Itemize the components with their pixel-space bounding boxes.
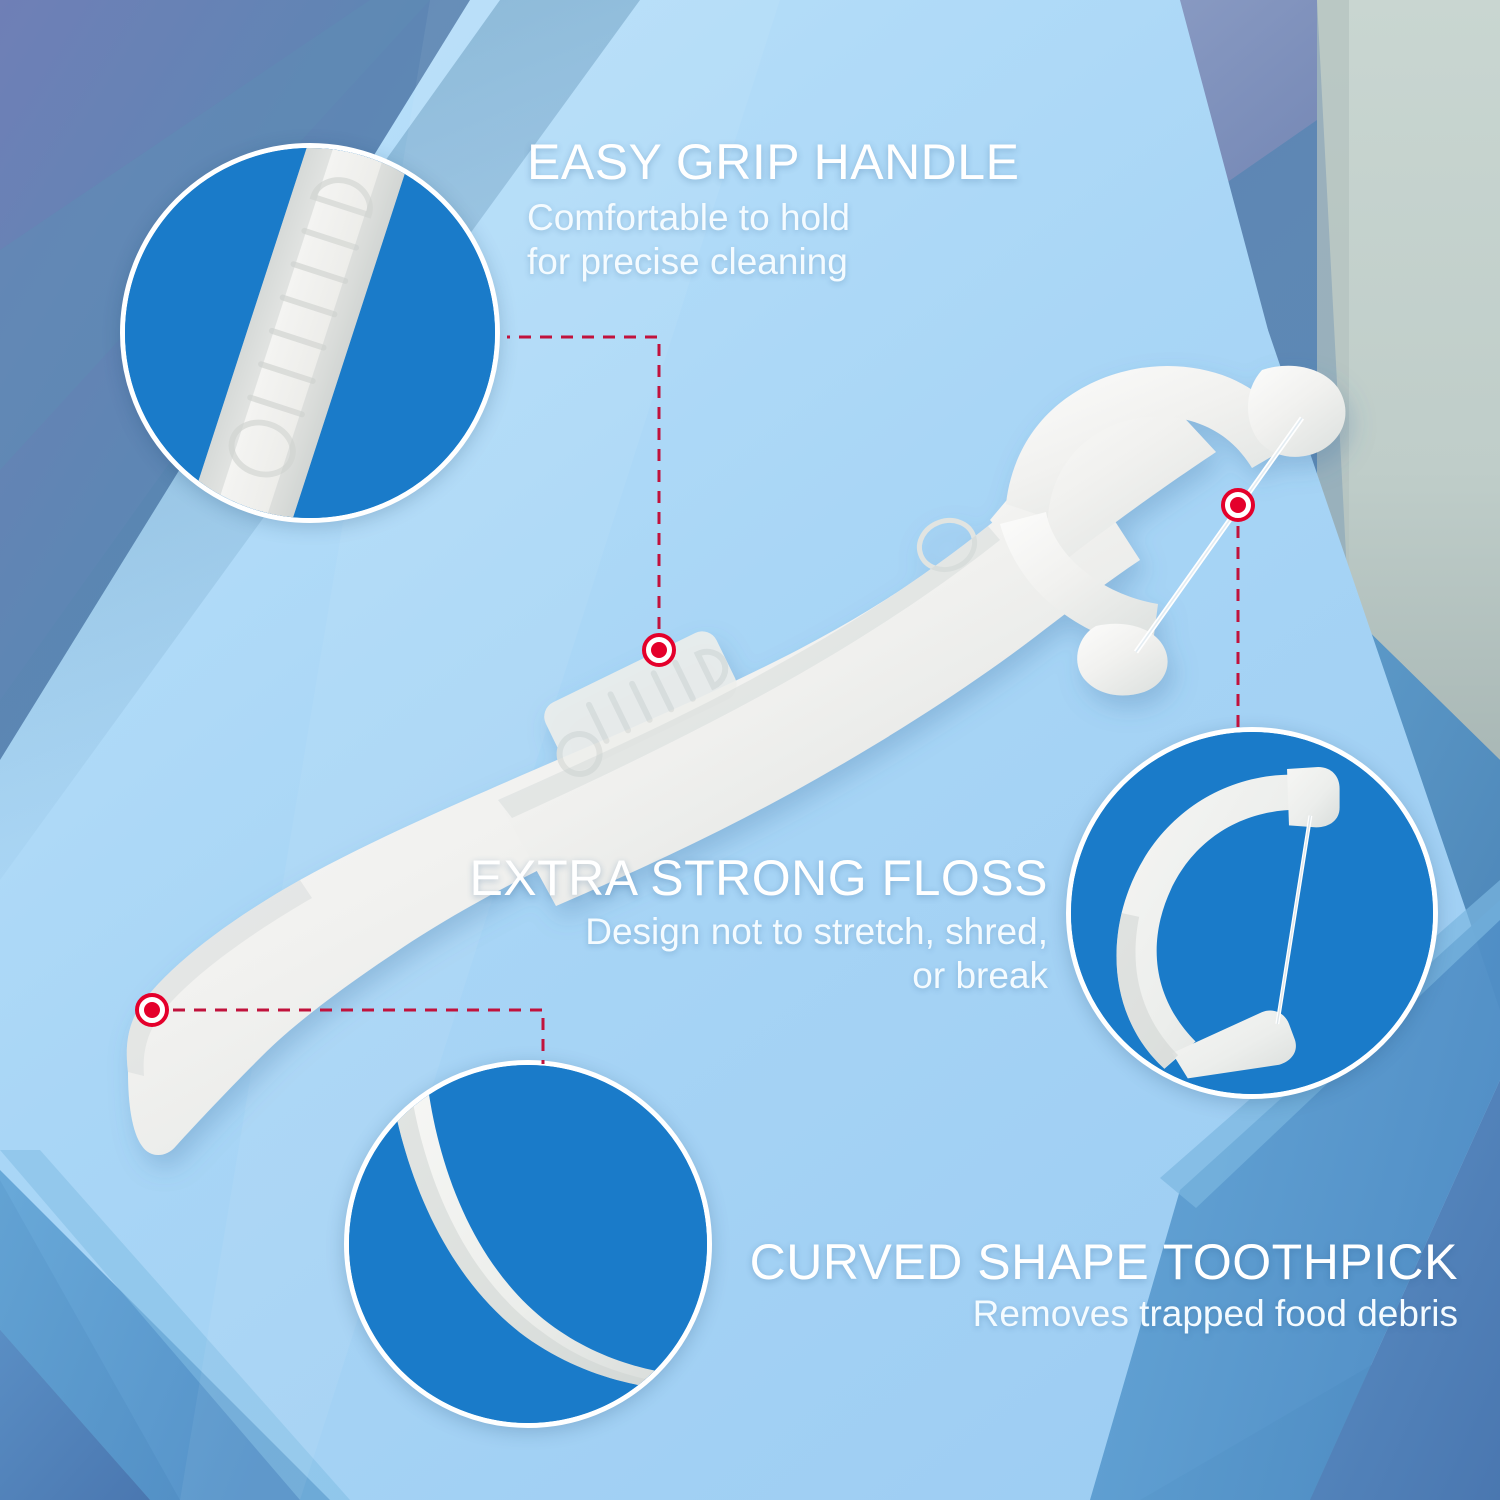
feature-subtitle-line: Design not to stretch, shred,	[469, 910, 1048, 954]
feature-text-extra-strong-floss: EXTRA STRONG FLOSS Design not to stretch…	[469, 852, 1048, 997]
feature-title-easy-grip-handle: EASY GRIP HANDLE	[527, 136, 1019, 188]
feature-subtitle-line: Removes trapped food debris	[750, 1292, 1458, 1336]
feature-subtitle-extra-strong-floss: Design not to stretch, shred, or break	[469, 910, 1048, 997]
infographic-canvas: EASY GRIP HANDLE Comfortable to hold for…	[0, 0, 1500, 1500]
feature-subtitle-line: Comfortable to hold	[527, 196, 1019, 240]
feature-subtitle-curved-shape-toothpick: Removes trapped food debris	[750, 1292, 1458, 1336]
feature-text-easy-grip-handle: EASY GRIP HANDLE Comfortable to hold for…	[527, 136, 1019, 283]
feature-title-curved-shape-toothpick: CURVED SHAPE TOOTHPICK	[750, 1236, 1458, 1288]
feature-subtitle-line: for precise cleaning	[527, 240, 1019, 284]
feature-subtitle-easy-grip-handle: Comfortable to hold for precise cleaning	[527, 196, 1019, 283]
feature-title-extra-strong-floss: EXTRA STRONG FLOSS	[469, 852, 1048, 904]
product-body	[127, 366, 1346, 1155]
feature-text-curved-shape-toothpick: CURVED SHAPE TOOTHPICK Removes trapped f…	[750, 1236, 1458, 1336]
feature-subtitle-line: or break	[469, 954, 1048, 998]
